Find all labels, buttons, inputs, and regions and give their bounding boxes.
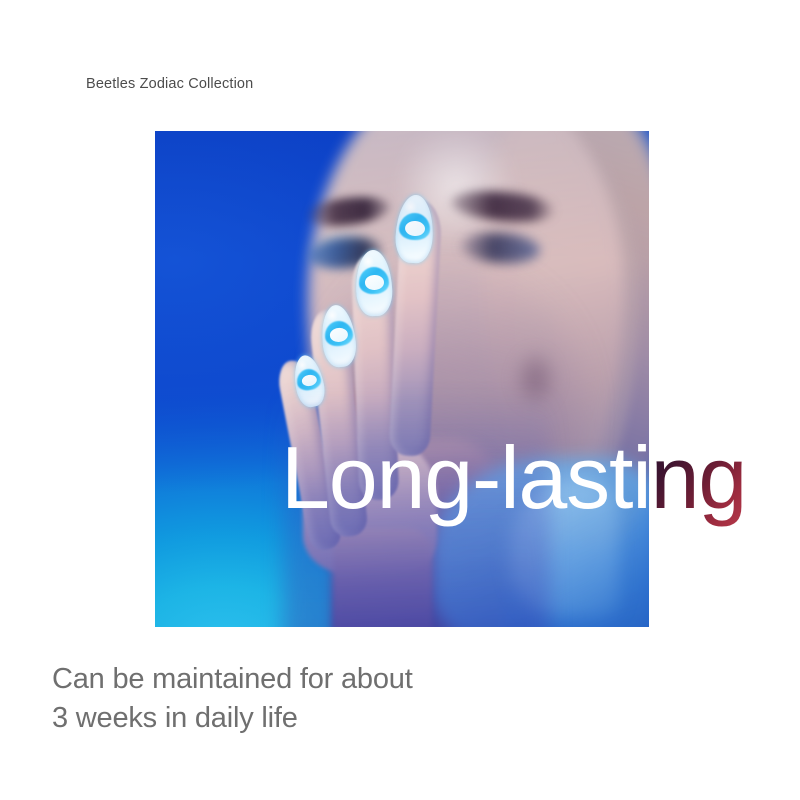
caption-line-2: 3 weeks in daily life <box>52 699 413 738</box>
hero-image <box>155 131 649 627</box>
nail-middle <box>355 249 393 316</box>
collection-eyebrow: Beetles Zodiac Collection <box>86 76 253 92</box>
nail-swirl-inner <box>365 275 385 290</box>
hero-image-content <box>155 131 649 627</box>
headline-segment-overflow: ng <box>651 428 746 527</box>
hero-caption: Can be maintained for about 3 weeks in d… <box>52 660 413 737</box>
wrist <box>333 528 432 627</box>
caption-line-1: Can be maintained for about <box>52 660 413 699</box>
hero-headline: Long-lasting <box>281 434 746 522</box>
hand <box>293 191 540 627</box>
headline-segment-on-image: Long-lasti <box>281 428 651 527</box>
poster-canvas: Beetles Zodiac Collection <box>0 0 800 800</box>
